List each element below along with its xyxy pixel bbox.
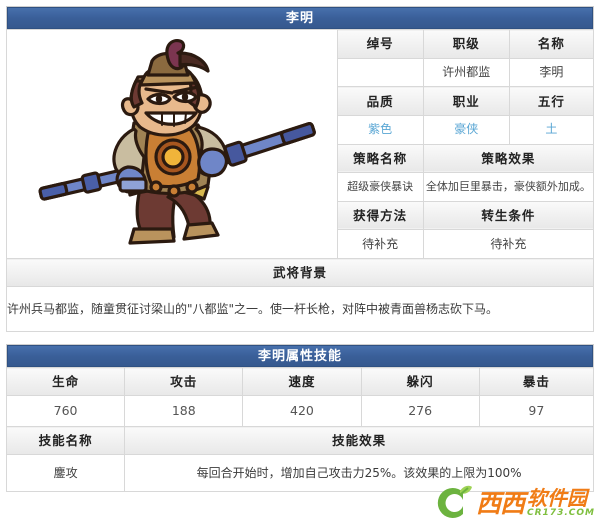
skill-header-row: 技能名称 技能效果 (7, 427, 594, 455)
page-root: 李明 (0, 0, 600, 528)
stat-value-row: 760 188 420 276 97 (7, 396, 594, 427)
hero-info-card: 李明 (6, 6, 594, 332)
strategy-value-name: 超级豪侠暴诀 (337, 173, 423, 202)
card-spacer (6, 332, 594, 344)
hero-detail-page: 李明 (0, 0, 600, 492)
stat-header-hp: 生命 (7, 368, 125, 396)
strategy-value-effect: 全体加巨里暴击，豪侠额外加成。 (423, 173, 593, 202)
info-header-rank: 职级 (423, 30, 509, 59)
acquire-value-rebirth: 待补充 (423, 230, 593, 259)
skill-effect: 每回合开始时，增加自己攻击力25%。该效果的上限为100% (125, 455, 594, 492)
stat-value-speed: 420 (243, 396, 361, 427)
skill-header-name: 技能名称 (7, 427, 125, 455)
info-value-element: 土 (509, 115, 593, 144)
info-header-nickname: 绰号 (337, 30, 423, 59)
watermark-brand-cn: 西西 (476, 491, 524, 516)
skill-row: 鏖攻 每回合开始时，增加自己攻击力25%。该效果的上限为100% (7, 455, 594, 492)
hero-portrait-cell (7, 30, 338, 259)
info-value-quality: 紫色 (337, 115, 423, 144)
background-body-row: 许州兵马都监，随童贯征讨梁山的"八都监"之一。使一杆长枪，对阵中被青面兽杨志砍下… (7, 287, 594, 332)
hero-card-title-row: 李明 (7, 7, 594, 30)
watermark-text-group: 软件园 CR173.COM (527, 488, 595, 518)
skill-header-effect: 技能效果 (125, 427, 594, 455)
acquire-header-rebirth: 转生条件 (423, 201, 593, 230)
info-header-class: 职业 (423, 87, 509, 116)
stat-header-dodge: 躲闪 (361, 368, 479, 396)
stat-header-crit: 暴击 (479, 368, 593, 396)
stat-header-speed: 速度 (243, 368, 361, 396)
stat-value-dodge: 276 (361, 396, 479, 427)
info-header-element: 五行 (509, 87, 593, 116)
background-section-text: 许州兵马都监，随童贯征讨梁山的"八都监"之一。使一杆长枪，对阵中被青面兽杨志砍下… (7, 287, 594, 332)
stat-value-atk: 188 (125, 396, 243, 427)
attributes-card: 李明属性技能 生命 攻击 速度 躲闪 暴击 760 188 420 276 97… (6, 344, 594, 492)
info-value-name: 李明 (509, 58, 593, 87)
strategy-header-name: 策略名称 (337, 144, 423, 173)
hero-portrait (7, 30, 337, 258)
info-header-quality: 品质 (337, 87, 423, 116)
watermark-url: CR173.COM (527, 509, 595, 518)
stat-header-atk: 攻击 (125, 368, 243, 396)
info-header-name: 名称 (509, 30, 593, 59)
strategy-header-effect: 策略效果 (423, 144, 593, 173)
hero-card-title: 李明 (7, 7, 593, 29)
background-header-row: 武将背景 (7, 259, 594, 287)
info-value-rank: 许州都监 (423, 58, 509, 87)
acquire-value-method: 待补充 (337, 230, 423, 259)
info-header-row-1: 绰号 职级 名称 (7, 30, 594, 59)
attributes-card-title: 李明属性技能 (7, 345, 593, 367)
info-value-nickname (337, 58, 423, 87)
background-section-title: 武将背景 (7, 259, 594, 287)
stat-header-row: 生命 攻击 速度 躲闪 暴击 (7, 368, 594, 396)
skill-name: 鏖攻 (7, 455, 125, 492)
hero-portrait-illustration (22, 37, 322, 252)
acquire-header-method: 获得方法 (337, 201, 423, 230)
info-value-class: 豪侠 (423, 115, 509, 144)
stat-value-hp: 760 (7, 396, 125, 427)
stat-value-crit: 97 (479, 396, 593, 427)
attributes-title-row: 李明属性技能 (7, 345, 594, 368)
